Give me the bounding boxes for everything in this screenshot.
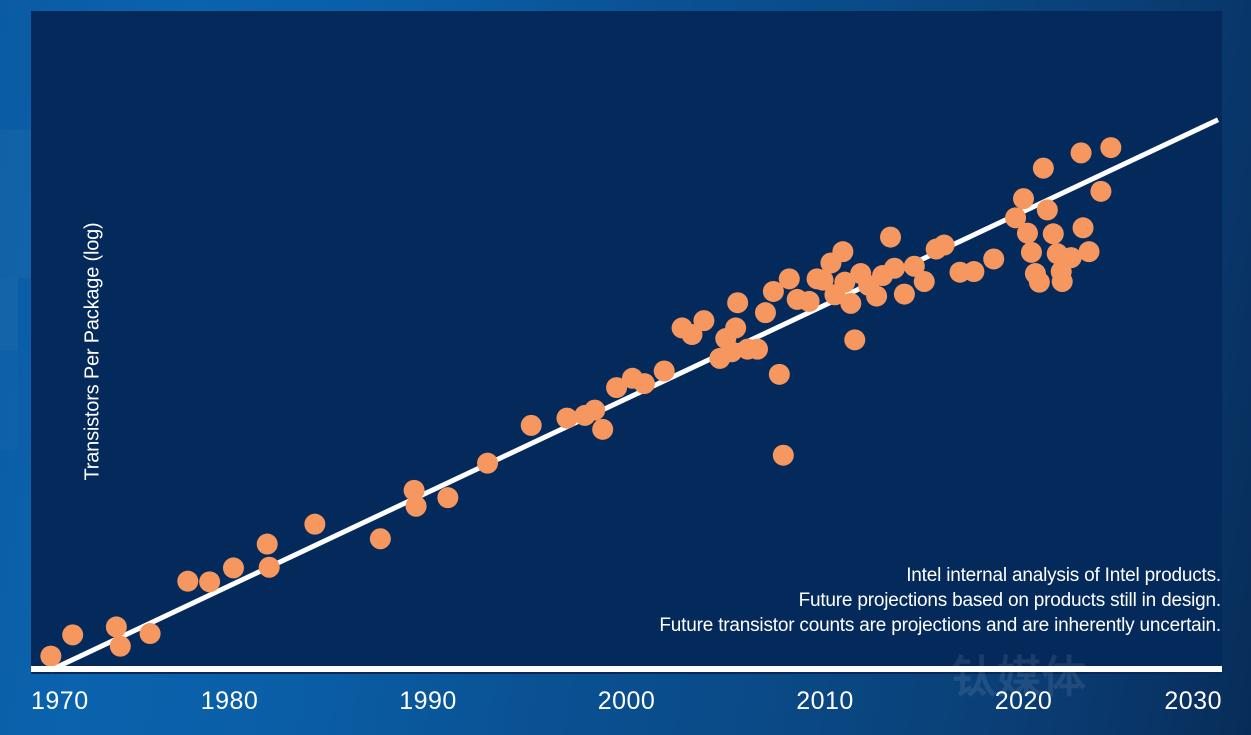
data-point bbox=[1073, 217, 1094, 238]
data-point bbox=[257, 534, 278, 555]
data-point bbox=[799, 291, 820, 312]
data-point bbox=[1021, 242, 1042, 263]
data-point bbox=[983, 248, 1004, 269]
x-tick-label-1980: 1980 bbox=[201, 687, 259, 716]
data-point bbox=[840, 293, 861, 314]
data-point bbox=[40, 646, 61, 667]
data-point bbox=[693, 310, 714, 331]
data-point bbox=[963, 261, 984, 282]
data-point bbox=[437, 487, 458, 508]
data-point bbox=[62, 624, 83, 645]
data-point bbox=[592, 419, 613, 440]
data-point bbox=[1090, 181, 1111, 202]
data-point bbox=[934, 235, 955, 256]
data-point bbox=[773, 445, 794, 466]
data-point bbox=[769, 364, 790, 385]
background-accent-block-b bbox=[0, 278, 18, 350]
x-tick-label-2020: 2020 bbox=[995, 687, 1053, 716]
chart-canvas: 钛媒体 Transistors Per Package (log) Intel … bbox=[0, 0, 1251, 735]
data-point bbox=[521, 415, 542, 436]
data-point bbox=[1100, 137, 1121, 158]
data-point bbox=[779, 268, 800, 289]
y-axis-title: Transistors Per Package (log) bbox=[82, 197, 105, 507]
x-tick-label-2030: 2030 bbox=[1164, 687, 1222, 716]
data-point bbox=[880, 227, 901, 248]
data-point bbox=[1017, 223, 1038, 244]
data-point bbox=[406, 496, 427, 517]
data-point bbox=[259, 557, 280, 578]
x-tick-label-1970: 1970 bbox=[31, 687, 89, 716]
data-point bbox=[866, 286, 887, 307]
data-point bbox=[556, 408, 577, 429]
x-tick-label-2000: 2000 bbox=[598, 687, 656, 716]
data-point bbox=[1037, 199, 1058, 220]
data-point bbox=[747, 339, 768, 360]
chart-annotation: Intel internal analysis of Intel product… bbox=[659, 563, 1221, 638]
data-point bbox=[370, 528, 391, 549]
data-point bbox=[110, 636, 131, 657]
data-point bbox=[304, 514, 325, 535]
data-point bbox=[725, 317, 746, 338]
data-point bbox=[1013, 188, 1034, 209]
data-point bbox=[914, 271, 935, 292]
data-point bbox=[634, 373, 655, 394]
data-point bbox=[884, 258, 905, 279]
data-point bbox=[477, 453, 498, 474]
x-tick-label-1990: 1990 bbox=[399, 687, 457, 716]
data-point bbox=[832, 241, 853, 262]
data-point bbox=[199, 571, 220, 592]
data-point bbox=[584, 400, 605, 421]
data-point bbox=[1043, 223, 1064, 244]
data-point bbox=[1029, 272, 1050, 293]
data-point bbox=[844, 329, 865, 350]
data-point bbox=[223, 557, 244, 578]
data-point bbox=[894, 284, 915, 305]
data-point bbox=[1033, 158, 1054, 179]
data-point bbox=[1052, 271, 1073, 292]
data-point bbox=[177, 571, 198, 592]
data-point bbox=[654, 361, 675, 382]
annotation-line-3: Future transistor counts are projections… bbox=[659, 613, 1221, 638]
data-point bbox=[106, 616, 127, 637]
background-accent-block-c bbox=[0, 350, 18, 450]
data-point bbox=[1071, 142, 1092, 163]
data-point bbox=[727, 292, 748, 313]
x-axis-line bbox=[31, 666, 1222, 672]
background-accent-block-a bbox=[0, 130, 32, 278]
annotation-line-2: Future projections based on products sti… bbox=[659, 588, 1221, 613]
annotation-line-1: Intel internal analysis of Intel product… bbox=[659, 563, 1221, 588]
data-point bbox=[755, 302, 776, 323]
x-tick-label-2010: 2010 bbox=[796, 687, 854, 716]
data-point bbox=[1061, 247, 1082, 268]
data-point bbox=[1079, 241, 1100, 262]
data-point bbox=[140, 623, 161, 644]
